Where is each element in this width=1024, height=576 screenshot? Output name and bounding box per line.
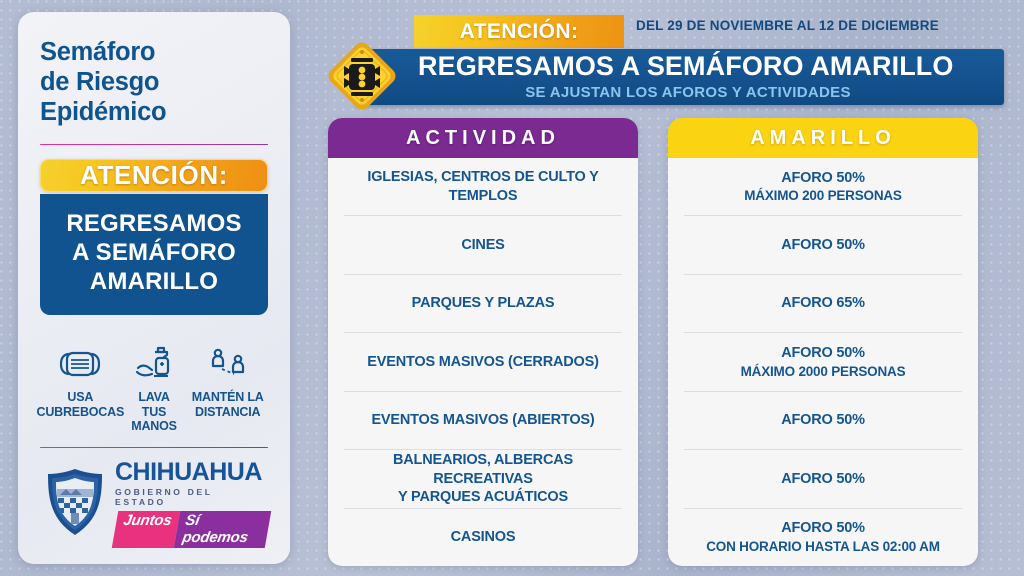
column-actividad: ACTIVIDAD IGLESIAS, CENTROS DE CULTO Y T… bbox=[328, 118, 638, 566]
logo-text: CHIHUAHUA GOBIERNO DEL ESTADO Juntos Sí … bbox=[115, 460, 268, 548]
activity-name: EVENTOS MASIVOS (CERRADOS) bbox=[367, 353, 598, 372]
table-row: AFORO 50%CON HORARIO HASTA LAS 02:00 AM bbox=[684, 509, 962, 566]
chihuahua-shield-icon bbox=[44, 467, 106, 542]
table-row: AFORO 50% bbox=[684, 216, 962, 274]
capacity-main: AFORO 50% bbox=[781, 471, 865, 487]
banner-headline: REGRESAMOS A SEMÁFORO AMARILLO bbox=[418, 53, 1004, 81]
logo-tagline-sipodemos: Sí podemos bbox=[174, 511, 272, 548]
capacity-value: AFORO 65% bbox=[781, 294, 865, 313]
banner-date-range: DEL 29 DE NOVIEMBRE AL 12 DE DICIEMBRE bbox=[636, 18, 939, 33]
table-row: EVENTOS MASIVOS (CERRADOS) bbox=[344, 333, 622, 391]
hygiene-item-distance: MANTÉN LA DISTANCIA bbox=[191, 345, 264, 419]
banner-attention-label: ATENCIÓN: bbox=[460, 20, 579, 44]
column-body-actividad: IGLESIAS, CENTROS DE CULTO Y TEMPLOS CIN… bbox=[328, 158, 638, 566]
capacity-value: AFORO 50%MÁXIMO 2000 PERSONAS bbox=[741, 344, 906, 380]
top-banner: ATENCIÓN: DEL 29 DE NOVIEMBRE AL 12 DE D… bbox=[326, 12, 1004, 112]
table-row: CASINOS bbox=[344, 509, 622, 566]
table-row: IGLESIAS, CENTROS DE CULTO Y TEMPLOS bbox=[344, 158, 622, 216]
table-row: AFORO 50% bbox=[684, 392, 962, 450]
capacity-sub: MÁXIMO 2000 PERSONAS bbox=[741, 363, 906, 380]
capacity-main: AFORO 50% bbox=[781, 412, 865, 428]
column-header-amarillo: AMARILLO bbox=[668, 118, 978, 158]
table-row: EVENTOS MASIVOS (ABIERTOS) bbox=[344, 392, 622, 450]
hygiene-label: MANTÉN LA DISTANCIA bbox=[192, 390, 264, 419]
table-row: PARQUES Y PLAZAS bbox=[344, 275, 622, 333]
capacity-sub: CON HORARIO HASTA LAS 02:00 AM bbox=[706, 538, 940, 555]
capacity-sub: MÁXIMO 200 PERSONAS bbox=[744, 187, 902, 204]
banner-headline-bar: REGRESAMOS A SEMÁFORO AMARILLO SE AJUSTA… bbox=[356, 49, 1004, 105]
capacity-main: AFORO 50% bbox=[781, 170, 865, 186]
traffic-light-diamond-icon bbox=[326, 40, 398, 117]
logo-subtitle: GOBIERNO DEL ESTADO bbox=[115, 487, 268, 507]
table-row: AFORO 50%MÁXIMO 2000 PERSONAS bbox=[684, 333, 962, 391]
sidebar-headline-block: REGRESAMOS A SEMÁFORO AMARILLO bbox=[40, 194, 268, 314]
banner-attention-chip: ATENCIÓN: bbox=[414, 15, 624, 48]
table-row: AFORO 50%MÁXIMO 200 PERSONAS bbox=[684, 158, 962, 216]
column-header-label: AMARILLO bbox=[750, 127, 896, 150]
banner-subheadline: SE AJUSTAN LOS AFOROS Y ACTIVIDADES bbox=[418, 84, 1004, 101]
face-mask-icon bbox=[58, 345, 102, 383]
activity-name: CINES bbox=[461, 236, 504, 255]
capacity-main: AFORO 50% bbox=[781, 520, 865, 536]
column-header-label: ACTIVIDAD bbox=[406, 127, 560, 150]
divider-bottom bbox=[40, 447, 268, 448]
column-header-actividad: ACTIVIDAD bbox=[328, 118, 638, 158]
capacity-main: AFORO 50% bbox=[781, 237, 865, 253]
table-row: AFORO 65% bbox=[684, 275, 962, 333]
capacity-value: AFORO 50% bbox=[781, 236, 865, 255]
divider-top bbox=[40, 144, 268, 145]
sidebar-card: Semáforo de Riesgo Epidémico ATENCIÓN: R… bbox=[18, 12, 290, 564]
hand-sanitizer-icon bbox=[134, 345, 174, 383]
activities-table: ACTIVIDAD IGLESIAS, CENTROS DE CULTO Y T… bbox=[328, 118, 1006, 566]
hygiene-item-handwash: LAVA TUS MANOS bbox=[118, 345, 191, 433]
logo-tagline-juntos: Juntos bbox=[112, 511, 180, 548]
government-logo: CHIHUAHUA GOBIERNO DEL ESTADO Juntos Sí … bbox=[40, 460, 268, 548]
capacity-value: AFORO 50%CON HORARIO HASTA LAS 02:00 AM bbox=[706, 519, 940, 555]
divider-middle bbox=[40, 333, 268, 334]
column-amarillo: AMARILLO AFORO 50%MÁXIMO 200 PERSONAS AF… bbox=[668, 118, 978, 566]
capacity-value: AFORO 50% bbox=[781, 411, 865, 430]
activity-name: CASINOS bbox=[451, 528, 516, 547]
activity-name: PARQUES Y PLAZAS bbox=[412, 294, 555, 313]
page-title: Semáforo de Riesgo Epidémico bbox=[40, 38, 166, 127]
table-row: AFORO 50% bbox=[684, 450, 962, 508]
sidebar-headline: REGRESAMOS A SEMÁFORO AMARILLO bbox=[48, 210, 260, 296]
social-distance-icon bbox=[206, 345, 250, 383]
capacity-value: AFORO 50%MÁXIMO 200 PERSONAS bbox=[744, 169, 902, 205]
capacity-value: AFORO 50% bbox=[781, 470, 865, 489]
hygiene-label: LAVA TUS MANOS bbox=[118, 390, 191, 433]
attention-chip: ATENCIÓN: bbox=[40, 159, 268, 192]
hygiene-measures: USA CUBREBOCAS LAVA TUS MANOS bbox=[40, 345, 268, 433]
capacity-main: AFORO 65% bbox=[781, 295, 865, 311]
activity-name: EVENTOS MASIVOS (ABIERTOS) bbox=[371, 411, 594, 430]
hygiene-item-mask: USA CUBREBOCAS bbox=[44, 345, 117, 419]
attention-chip-label: ATENCIÓN: bbox=[80, 160, 228, 191]
logo-state-name: CHIHUAHUA bbox=[115, 460, 268, 485]
table-row: CINES bbox=[344, 216, 622, 274]
table-row: BALNEARIOS, ALBERCAS RECREATIVAS Y PARQU… bbox=[344, 450, 622, 508]
column-body-amarillo: AFORO 50%MÁXIMO 200 PERSONAS AFORO 50% A… bbox=[668, 158, 978, 566]
logo-tagline: Juntos Sí podemos bbox=[112, 511, 272, 548]
activity-name: IGLESIAS, CENTROS DE CULTO Y TEMPLOS bbox=[344, 168, 622, 205]
capacity-main: AFORO 50% bbox=[781, 345, 865, 361]
activity-name: BALNEARIOS, ALBERCAS RECREATIVAS Y PARQU… bbox=[344, 451, 622, 507]
hygiene-label: USA CUBREBOCAS bbox=[37, 390, 125, 419]
